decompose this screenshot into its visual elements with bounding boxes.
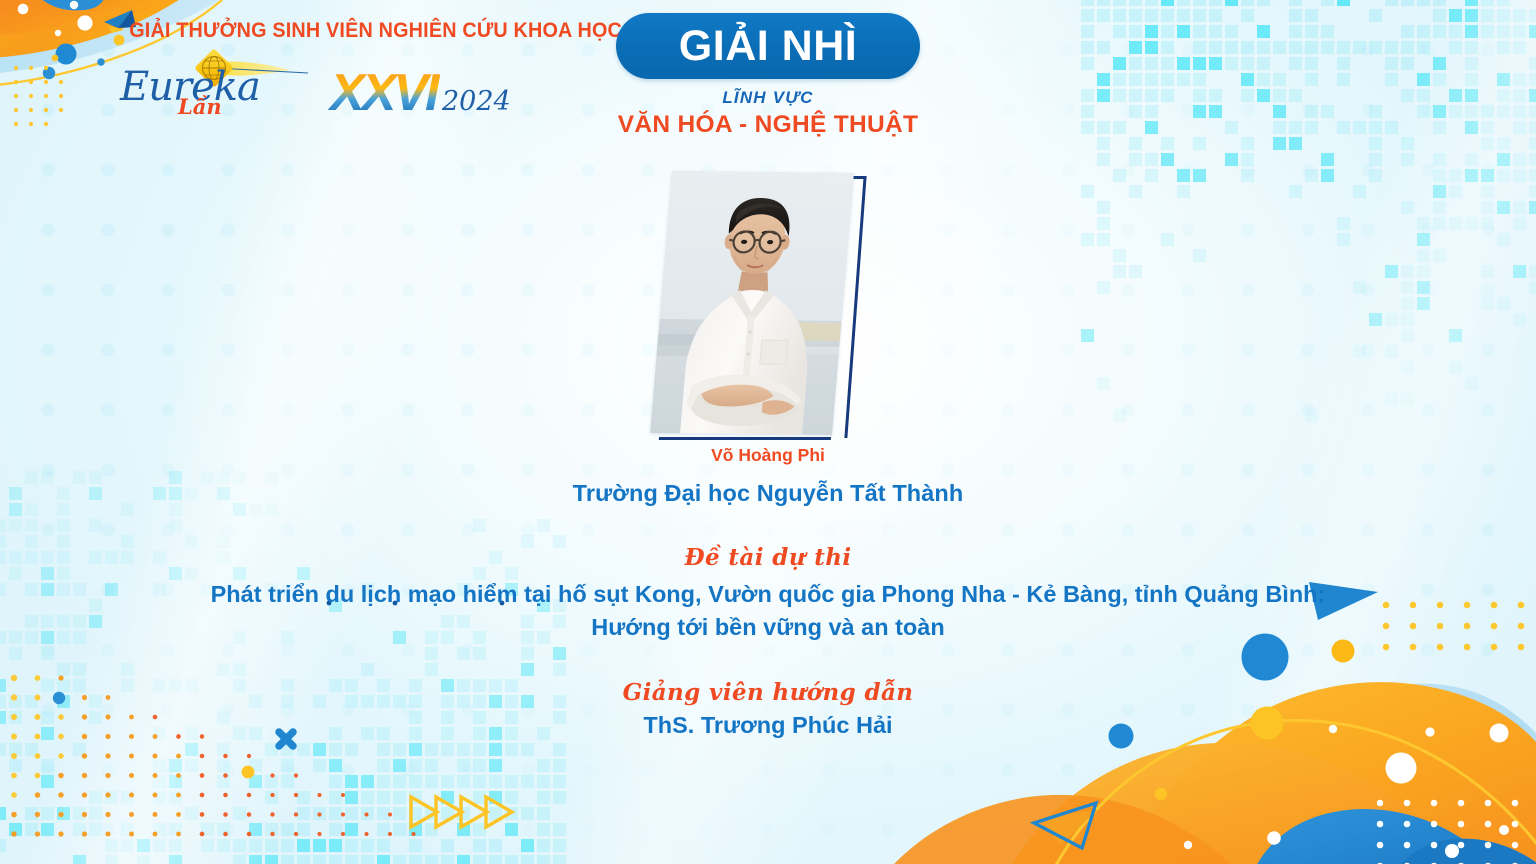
- award-field-block: LĨNH VỰC VĂN HÓA - NGHỆ THUẬT: [568, 88, 968, 139]
- photo-frame-accent-bottom: [659, 434, 831, 440]
- topic-kicker-label: Đề tài dự thi: [118, 544, 1418, 571]
- topic-title-line-2: Hướng tới bền vững và an toàn: [118, 611, 1418, 644]
- topic-title-line-1: Phát triển du lịch mạo hiểm tại hố sụt K…: [118, 578, 1418, 611]
- university-name: Trường Đại học Nguyễn Tất Thành: [118, 480, 1418, 507]
- student-portrait: [650, 171, 854, 435]
- eureka-edition-roman: XXVI: [327, 64, 441, 122]
- eureka-logo: XXVI Eureka Lần 2024: [112, 48, 542, 122]
- student-photo-block: Võ Hoàng Phi: [647, 172, 889, 467]
- advisor-kicker-label: Giảng viên hướng dẫn: [118, 679, 1418, 706]
- topic-title: Phát triển du lịch mạo hiểm tại hố sụt K…: [118, 578, 1418, 645]
- event-title: GIẢI THƯỞNG SINH VIÊN NGHIÊN CỨU KHOA HỌ…: [129, 18, 525, 43]
- field-name-label: VĂN HÓA - NGHỆ THUẬT: [568, 111, 968, 139]
- advisor-name: ThS. Trương Phúc Hải: [118, 712, 1418, 739]
- eureka-edition-label: Lần: [178, 94, 222, 119]
- award-badge-label: GIẢI NHÌ: [679, 25, 857, 68]
- student-name: Võ Hoàng Phi: [647, 445, 889, 466]
- award-badge: GIẢI NHÌ: [616, 13, 920, 79]
- eureka-year: 2024: [442, 86, 511, 117]
- event-header: GIẢI THƯỞNG SINH VIÊN NGHIÊN CỨU KHOA HỌ…: [112, 18, 542, 122]
- award-details: Trường Đại học Nguyễn Tất Thành Đề tài d…: [118, 480, 1418, 739]
- slide-canvas: GIẢI THƯỞNG SINH VIÊN NGHIÊN CỨU KHOA HỌ…: [0, 0, 1536, 864]
- field-kicker-label: LĨNH VỰC: [568, 88, 968, 108]
